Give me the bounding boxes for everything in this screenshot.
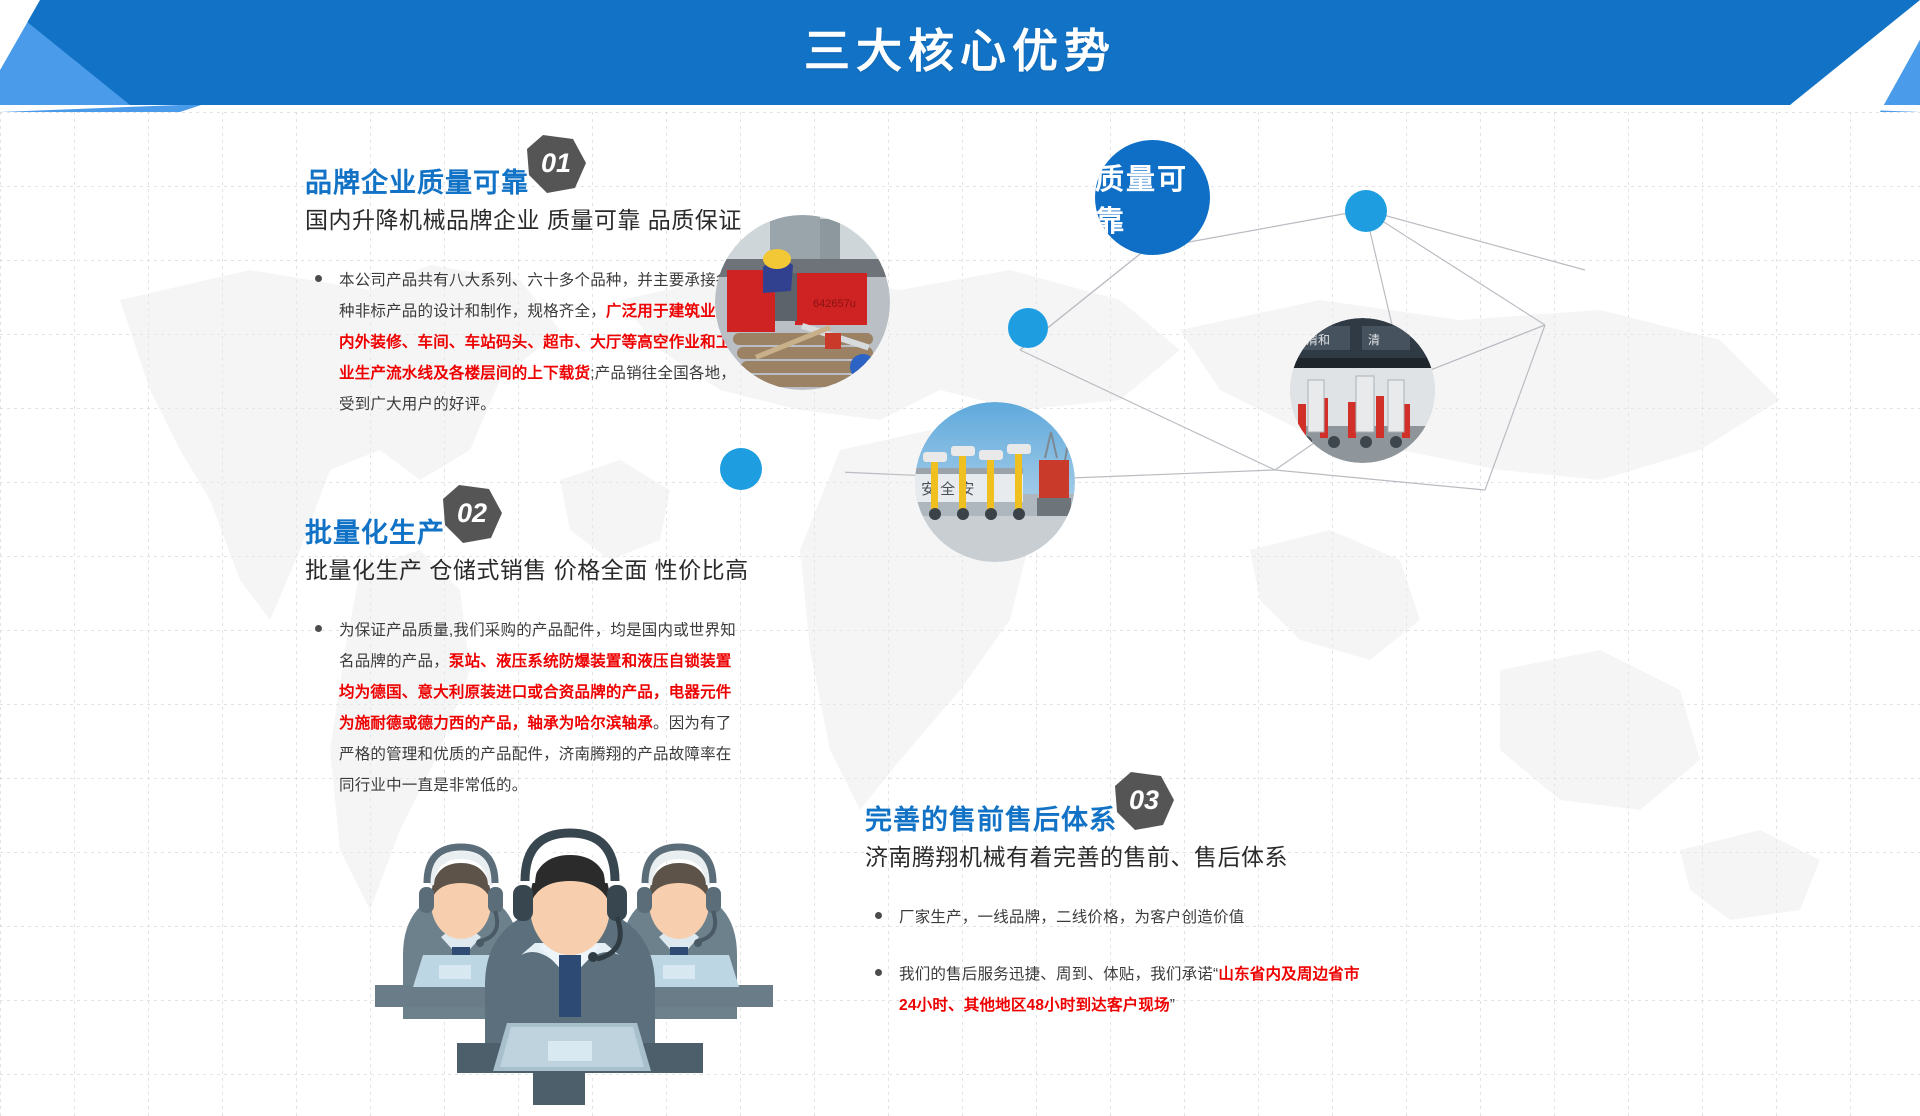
bullet-item: 我们的售后服务迅捷、周到、体贴，我们承诺“山东省内及周边省市24小时、其他地区4… (865, 959, 1365, 1021)
call-center-team (345, 655, 795, 1105)
feature-03-badge: 03 (1113, 770, 1175, 832)
bullet-dot-icon (875, 912, 882, 919)
feature-03-head: 完善的售前售后体系 03 (865, 770, 1365, 836)
bullet-item: 本公司产品共有八大系列、六十多个品种，并主要承接各种非标产品的设计和制作，规格齐… (305, 265, 745, 420)
feature-02-number: 02 (441, 482, 503, 544)
grid-line-h (0, 1074, 1920, 1075)
grid-line-h (0, 704, 1920, 705)
body-text: 厂家生产，一线品牌，二线价格，为客户创造价值 (899, 909, 1244, 926)
bullet-dot-icon (875, 969, 882, 976)
feature-03-number: 03 (1113, 769, 1175, 831)
photo-yard-lift-platforms[interactable]: 安 全 安 (915, 402, 1075, 562)
feature-02-title: 批量化生产 (305, 519, 445, 549)
feature-block-01: 品牌企业质量可靠 01 国内升降机械品牌企业 质量可靠 品质保证 本公司产品共有… (305, 133, 745, 446)
svg-text:清: 清 (1368, 333, 1380, 347)
header-banner: 三大核心优势 (0, 0, 1920, 112)
network-diagram: 质量可靠 (845, 150, 1865, 670)
page-title: 三大核心优势 (0, 0, 1920, 96)
feature-03-subtitle: 济南腾翔机械有着完善的售前、售后体系 (865, 838, 1365, 872)
feature-03-bullets: 厂家生产，一线品牌，二线价格，为客户创造价值我们的售后服务迅捷、周到、体贴，我们… (865, 902, 1365, 1021)
bullet-text: 本公司产品共有八大系列、六十多个品种，并主要承接各种非标产品的设计和制作，规格齐… (339, 265, 745, 420)
photo-workshop-production[interactable]: 642657u (715, 215, 890, 390)
bullet-item: 厂家生产，一线品牌，二线价格，为客户创造价值 (865, 902, 1365, 933)
feature-02-badge: 02 (441, 483, 503, 545)
feature-01-bullets: 本公司产品共有八大系列、六十多个品种，并主要承接各种非标产品的设计和制作，规格齐… (305, 265, 745, 420)
feature-01-badge: 01 (525, 133, 587, 195)
bullet-dot-icon (315, 625, 322, 632)
feature-03-title: 完善的售前售后体系 (865, 806, 1117, 836)
page-root: 三大核心优势 品牌企业质量可靠 01 国内升降机械品牌企业 质量可靠 品质保证 … (0, 0, 1920, 1116)
feature-02-head: 批量化生产 02 (305, 483, 745, 549)
feature-01-number: 01 (525, 132, 587, 194)
grid-line-v (296, 112, 297, 1116)
node-dot-center[interactable] (1008, 308, 1048, 348)
feature-01-head: 品牌企业质量可靠 01 (305, 133, 745, 199)
grid-line-v (222, 112, 223, 1116)
bullet-text: 我们的售后服务迅捷、周到、体贴，我们承诺“山东省内及周边省市24小时、其他地区4… (899, 959, 1365, 1021)
grid-line-h (0, 112, 1920, 113)
bullet-text: 厂家生产，一线品牌，二线价格，为客户创造价值 (899, 902, 1365, 933)
bullet-dot-icon (315, 275, 322, 282)
hub-quality-reliable[interactable]: 质量可靠 (1095, 140, 1210, 255)
grid-line-v (148, 112, 149, 1116)
body-text: ” (1170, 997, 1175, 1014)
feature-block-03: 完善的售前售后体系 03 济南腾翔机械有着完善的售前、售后体系 厂家生产，一线品… (865, 770, 1365, 1047)
body-text: 我们的售后服务迅捷、周到、体贴，我们承诺“ (899, 966, 1218, 983)
feature-01-title: 品牌企业质量可靠 (305, 169, 529, 199)
feature-02-subtitle: 批量化生产 仓储式销售 价格全面 性价比高 (305, 551, 745, 585)
svg-text:安 全 安: 安 全 安 (921, 480, 974, 498)
grid-line-v (0, 112, 1, 1116)
svg-text:642657u: 642657u (813, 298, 856, 310)
photo-storefront-display[interactable]: 清和 清 (1290, 318, 1435, 463)
grid-line-v (74, 112, 75, 1116)
node-dot-left-bottom[interactable] (720, 448, 762, 490)
hub-label: 质量可靠 (1095, 156, 1210, 240)
node-dot-right-top[interactable] (1345, 190, 1387, 232)
feature-01-subtitle: 国内升降机械品牌企业 质量可靠 品质保证 (305, 201, 745, 235)
